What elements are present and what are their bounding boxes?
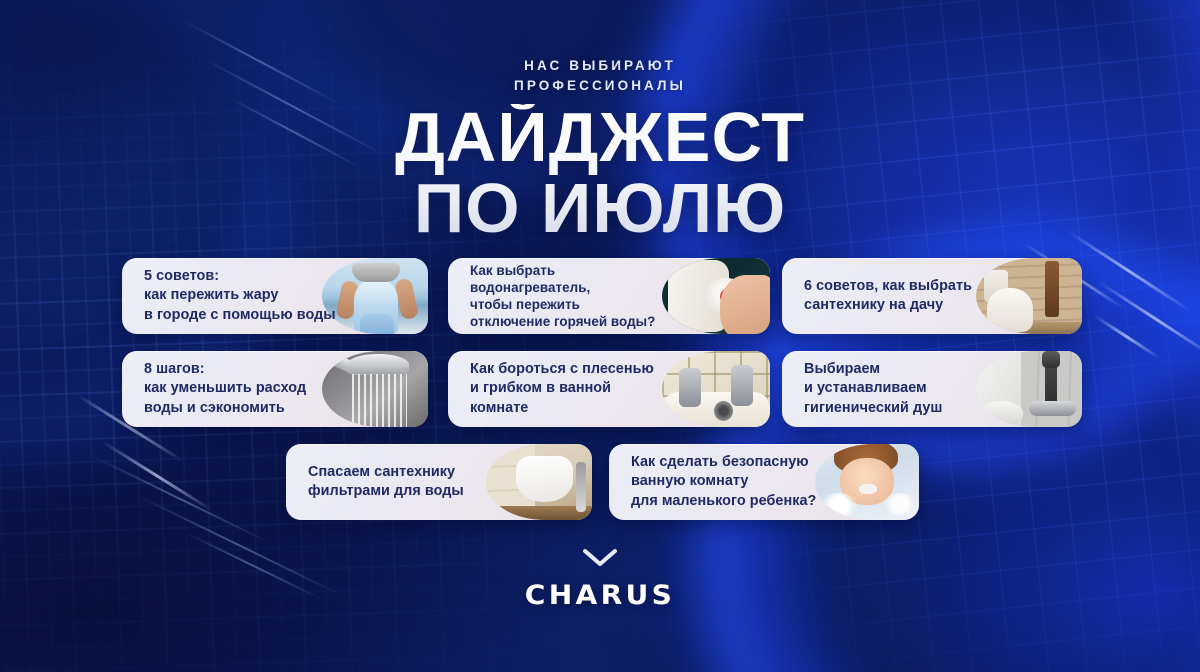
- card-title: 6 советов, как выбрать сантехнику на дач…: [782, 277, 978, 315]
- card-image: [322, 351, 428, 427]
- digest-card[interactable]: Как сделать безопасную ванную комнату дл…: [609, 444, 919, 520]
- card-image: [662, 258, 770, 334]
- card-title: Как бороться с плесенью и грибком в ванн…: [448, 360, 660, 417]
- card-image: [486, 444, 592, 520]
- digest-card[interactable]: Спасаем сантехнику фильтрами для воды: [286, 444, 592, 520]
- card-title: Как выбрать водонагреватель, чтобы переж…: [448, 262, 661, 330]
- card-title: 5 советов: как пережить жару в городе с …: [122, 267, 342, 324]
- card-title: 8 шагов: как уменьшить расход воды и сэк…: [122, 360, 312, 417]
- card-title: Выбираем и устанавливаем гигиенический д…: [782, 360, 948, 417]
- digest-card[interactable]: Как выбрать водонагреватель, чтобы переж…: [448, 258, 770, 334]
- card-title: Спасаем сантехнику фильтрами для воды: [286, 463, 470, 501]
- card-image: [976, 351, 1082, 427]
- brand-logo: CHARUS: [0, 580, 1200, 611]
- digest-card[interactable]: Выбираем и устанавливаем гигиенический д…: [782, 351, 1082, 427]
- digest-card[interactable]: 6 советов, как выбрать сантехнику на дач…: [782, 258, 1082, 334]
- digest-card[interactable]: 5 советов: как пережить жару в городе с …: [122, 258, 428, 334]
- chevron-down-icon: [583, 548, 617, 568]
- digest-poster: НАС ВЫБИРАЮТ ПРОФЕССИОНАЛЫ ДАЙДЖЕСТ ПО И…: [0, 0, 1200, 672]
- card-image: [662, 351, 770, 427]
- digest-card-grid: 5 советов: как пережить жару в городе с …: [0, 0, 1200, 672]
- digest-card[interactable]: Как бороться с плесенью и грибком в ванн…: [448, 351, 770, 427]
- card-image: [976, 258, 1082, 334]
- card-image: [815, 444, 919, 520]
- card-title: Как сделать безопасную ванную комнату дл…: [609, 453, 822, 510]
- digest-card[interactable]: 8 шагов: как уменьшить расход воды и сэк…: [122, 351, 428, 427]
